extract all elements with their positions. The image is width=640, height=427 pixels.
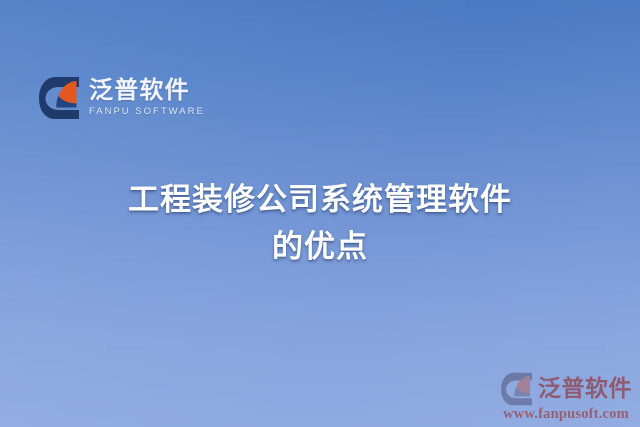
page-title: 工程装修公司系统管理软件 的优点	[0, 176, 640, 270]
fanpu-swoosh-logo-icon	[38, 76, 80, 120]
headline-line-2: 的优点	[0, 223, 640, 270]
watermark-logo-row: 泛普软件	[500, 372, 632, 406]
watermark-brand-name: 泛普软件	[538, 377, 632, 400]
brand-logo[interactable]: 泛普软件 FANPU SOFTWARE	[38, 76, 205, 120]
watermark-url: www.fanpusoft.com	[503, 407, 629, 422]
brand-subtitle: FANPU SOFTWARE	[89, 107, 205, 117]
fanpu-swoosh-logo-icon	[500, 372, 533, 406]
brand-name: 泛普软件	[89, 79, 205, 103]
promo-banner: 泛普软件 FANPU SOFTWARE 工程装修公司系统管理软件 的优点 泛普软…	[0, 0, 640, 427]
watermark: 泛普软件 www.fanpusoft.com	[500, 372, 632, 422]
headline-line-1: 工程装修公司系统管理软件	[0, 176, 640, 223]
brand-text-block: 泛普软件 FANPU SOFTWARE	[89, 79, 205, 117]
